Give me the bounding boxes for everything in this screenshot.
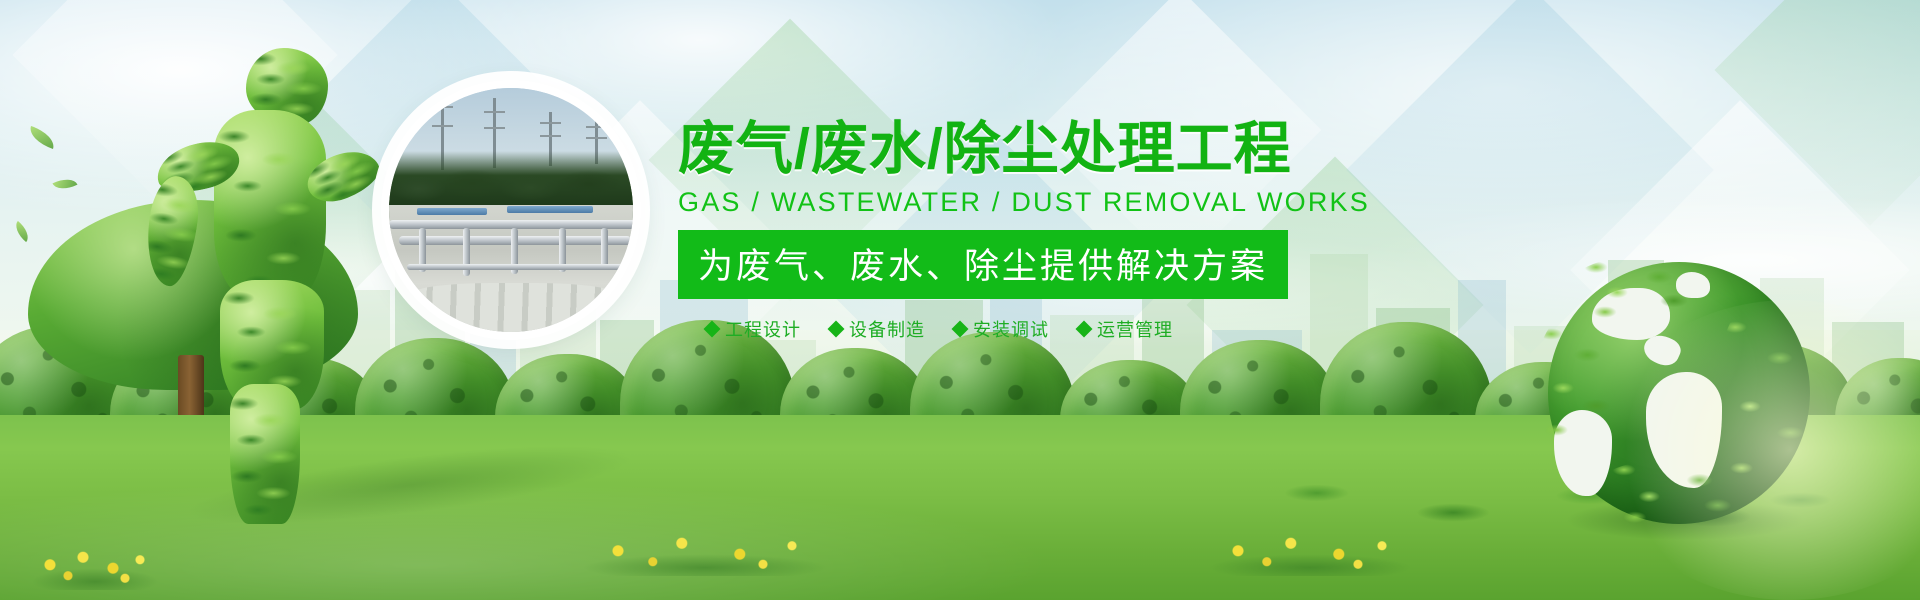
service-item-design[interactable]: 工程设计 (706, 316, 801, 342)
tagline-text: 为废气、废水、除尘提供解决方案 (698, 247, 1268, 286)
diamond-bullet-icon (1076, 320, 1093, 337)
yellow-flowers (560, 534, 850, 576)
service-item-installation[interactable]: 安装调试 (954, 316, 1049, 342)
leaf-man-figure (150, 48, 380, 518)
tagline-bar: 为废气、废水、除尘提供解决方案 (678, 230, 1288, 299)
page-subtitle: GAS / WASTEWATER / DUST REMOVAL WORKS (678, 187, 1518, 218)
yellow-flowers (20, 548, 170, 590)
service-label: 设备制造 (849, 316, 925, 342)
diamond-bullet-icon (952, 320, 969, 337)
wastewater-plant-photo (389, 88, 633, 332)
headline-block: 废气/废水/除尘处理工程 GAS / WASTEWATER / DUST REM… (678, 120, 1518, 342)
service-item-manufacturing[interactable]: 设备制造 (830, 316, 925, 342)
yellow-flowers (1190, 534, 1430, 576)
diamond-bullet-icon (704, 320, 721, 337)
service-label: 安装调试 (973, 316, 1049, 342)
service-label: 工程设计 (725, 316, 801, 342)
diamond-bullet-icon (828, 320, 845, 337)
service-label: 运营管理 (1097, 316, 1173, 342)
eco-engineering-banner: 废气/废水/除尘处理工程 GAS / WASTEWATER / DUST REM… (0, 0, 1920, 600)
service-list: 工程设计 设备制造 安装调试 运营管理 (678, 316, 1518, 342)
service-item-operation[interactable]: 运营管理 (1078, 316, 1173, 342)
page-title: 废气/废水/除尘处理工程 (678, 120, 1518, 180)
plant-photo-circle (381, 80, 641, 340)
